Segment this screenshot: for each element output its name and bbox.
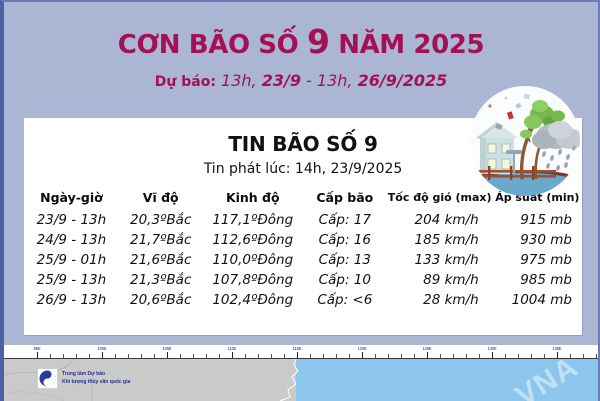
axis-tick xyxy=(453,354,454,358)
axis-tick xyxy=(76,354,77,358)
axis-tick xyxy=(63,354,64,358)
axis-tick xyxy=(531,354,532,358)
axis-tick xyxy=(583,354,584,358)
column-header-wind-speed: Tốc độ gió (max) xyxy=(387,190,493,210)
axis-tick xyxy=(271,354,272,358)
cell-datetime: 26/9 - 13h xyxy=(24,290,119,310)
forecast-end-date: 26/9/2025 xyxy=(358,71,448,90)
axis-tick xyxy=(466,354,467,358)
agency-name-line2: Khí tượng thủy văn quốc gia xyxy=(62,379,130,386)
axis-tick-label: 115E xyxy=(293,346,302,351)
axis-tick xyxy=(544,354,545,358)
cell-latitude: 21,6ºBắc xyxy=(119,250,203,270)
cell-latitude: 21,7ºBắc xyxy=(119,230,203,250)
column-header-latitude: Vĩ độ xyxy=(119,190,203,210)
axis-tick xyxy=(336,354,337,358)
agency-name: Trung tâm Dự báo Khí tượng thủy văn quốc… xyxy=(62,371,130,386)
axis-tick xyxy=(219,354,220,358)
axis-tick-label: 120E xyxy=(358,346,367,351)
storm-bulletin-graphic: CƠN BÃO SỐ 9 NĂM 2025 Dự báo: 13h, 23/9 … xyxy=(0,0,600,401)
axis-tick xyxy=(349,354,350,358)
axis-tick-label: 135E xyxy=(553,346,562,351)
axis-tick xyxy=(50,354,51,358)
cell-latitude: 21,3ºBắc xyxy=(119,270,203,290)
axis-tick xyxy=(258,354,259,358)
table-row: 24/9 - 13h 21,7ºBắc 112,6ºĐông Cấp: 16 1… xyxy=(24,230,582,250)
column-header-storm-category: Cấp bão xyxy=(303,190,387,210)
forecast-dash: - xyxy=(306,71,312,90)
cell-longitude: 102,4ºĐông xyxy=(203,290,303,310)
map-coastline xyxy=(274,359,334,401)
table-header-row: Ngày-giờ Vĩ độ Kinh độ Cấp bão Tốc độ gi… xyxy=(24,190,582,210)
agency-name-line1: Trung tâm Dự báo xyxy=(62,371,130,378)
axis-tick xyxy=(362,352,363,358)
cell-wind-speed: 185 km/h xyxy=(387,230,493,250)
cell-datetime: 25/9 - 01h xyxy=(24,250,119,270)
forecast-start-date: 23/9 xyxy=(262,71,301,90)
axis-tick-label: 95E xyxy=(34,346,41,351)
axis-tick-label: 125E xyxy=(423,346,432,351)
agency-seal-icon xyxy=(37,368,58,389)
forecast-table: Ngày-giờ Vĩ độ Kinh độ Cấp bão Tốc độ gi… xyxy=(24,190,582,310)
axis-tick xyxy=(102,352,103,358)
table-row: 25/9 - 01h 21,6ºBắc 110,0ºĐông Cấp: 13 1… xyxy=(24,250,582,270)
axis-tick xyxy=(505,354,506,358)
axis-tick xyxy=(154,354,155,358)
forecast-start-time: 13h, xyxy=(221,71,257,90)
cell-longitude: 110,0ºĐông xyxy=(203,250,303,270)
axis-tick xyxy=(479,354,480,358)
axis-tick xyxy=(440,354,441,358)
axis-tick xyxy=(232,352,233,358)
cell-longitude: 107,8ºĐông xyxy=(203,270,303,290)
title-post: NĂM 2025 xyxy=(338,30,484,60)
axis-tick xyxy=(284,354,285,358)
axis-tick xyxy=(401,354,402,358)
axis-tick xyxy=(492,352,493,358)
cell-pressure: 915 mb xyxy=(493,210,582,230)
axis-tick xyxy=(518,354,519,358)
longitude-axis: 95E 100E 105E 110E 115E 120E 125E 130E 1… xyxy=(4,345,598,359)
storm-house-tree-rain-icon xyxy=(470,86,580,196)
axis-tick-label: 100E xyxy=(98,346,107,351)
cell-pressure: 975 mb xyxy=(493,250,582,270)
axis-tick xyxy=(570,354,571,358)
cell-wind-speed: 28 km/h xyxy=(387,290,493,310)
axis-tick xyxy=(414,354,415,358)
cell-datetime: 25/9 - 13h xyxy=(24,270,119,290)
cell-longitude: 117,1ºĐông xyxy=(203,210,303,230)
axis-tick xyxy=(427,352,428,358)
cell-storm-category: Cấp: 17 xyxy=(303,210,387,230)
cell-latitude: 20,3ºBắc xyxy=(119,210,203,230)
agency-credit: Trung tâm Dự báo Khí tượng thủy văn quốc… xyxy=(37,368,130,389)
axis-tick xyxy=(388,354,389,358)
axis-tick xyxy=(310,354,311,358)
axis-tick xyxy=(115,354,116,358)
axis-tick xyxy=(206,354,207,358)
axis-tick xyxy=(89,354,90,358)
axis-tick xyxy=(375,354,376,358)
cell-storm-category: Cấp: <6 xyxy=(303,290,387,310)
forecast-end-time: 13h, xyxy=(317,71,353,90)
cell-pressure: 1004 mb xyxy=(493,290,582,310)
title-storm-number: 9 xyxy=(307,22,330,61)
cell-datetime: 23/9 - 13h xyxy=(24,210,119,230)
cell-storm-category: Cấp: 13 xyxy=(303,250,387,270)
cell-latitude: 20,6ºBắc xyxy=(119,290,203,310)
axis-tick xyxy=(557,352,558,358)
axis-tick xyxy=(323,354,324,358)
title-pre: CƠN BÃO SỐ xyxy=(118,30,299,60)
axis-tick xyxy=(193,354,194,358)
axis-tick xyxy=(297,352,298,358)
cell-wind-speed: 89 km/h xyxy=(387,270,493,290)
axis-tick xyxy=(128,354,129,358)
axis-tick xyxy=(596,354,597,358)
axis-tick-label: 105E xyxy=(163,346,172,351)
cell-pressure: 930 mb xyxy=(493,230,582,250)
cell-storm-category: Cấp: 16 xyxy=(303,230,387,250)
cell-wind-speed: 133 km/h xyxy=(387,250,493,270)
table-row: 25/9 - 13h 21,3ºBắc 107,8ºĐông Cấp: 10 8… xyxy=(24,270,582,290)
cell-pressure: 985 mb xyxy=(493,270,582,290)
forecast-label: Dự báo: xyxy=(155,74,216,90)
table-row: 23/9 - 13h 20,3ºBắc 117,1ºĐông Cấp: 17 2… xyxy=(24,210,582,230)
axis-tick xyxy=(141,354,142,358)
axis-tick xyxy=(180,354,181,358)
cell-wind-speed: 204 km/h xyxy=(387,210,493,230)
axis-tick xyxy=(167,352,168,358)
column-header-datetime: Ngày-giờ xyxy=(24,190,119,210)
axis-tick-label: 110E xyxy=(228,346,237,351)
cell-datetime: 24/9 - 13h xyxy=(24,230,119,250)
axis-tick xyxy=(37,352,38,358)
axis-tick xyxy=(245,354,246,358)
cell-storm-category: Cấp: 10 xyxy=(303,270,387,290)
table-row: 26/9 - 13h 20,6ºBắc 102,4ºĐông Cấp: <6 2… xyxy=(24,290,582,310)
axis-tick-label: 130E xyxy=(488,346,497,351)
column-header-longitude: Kinh độ xyxy=(203,190,303,210)
page-title: CƠN BÃO SỐ 9 NĂM 2025 xyxy=(4,22,598,61)
cell-longitude: 112,6ºĐông xyxy=(203,230,303,250)
